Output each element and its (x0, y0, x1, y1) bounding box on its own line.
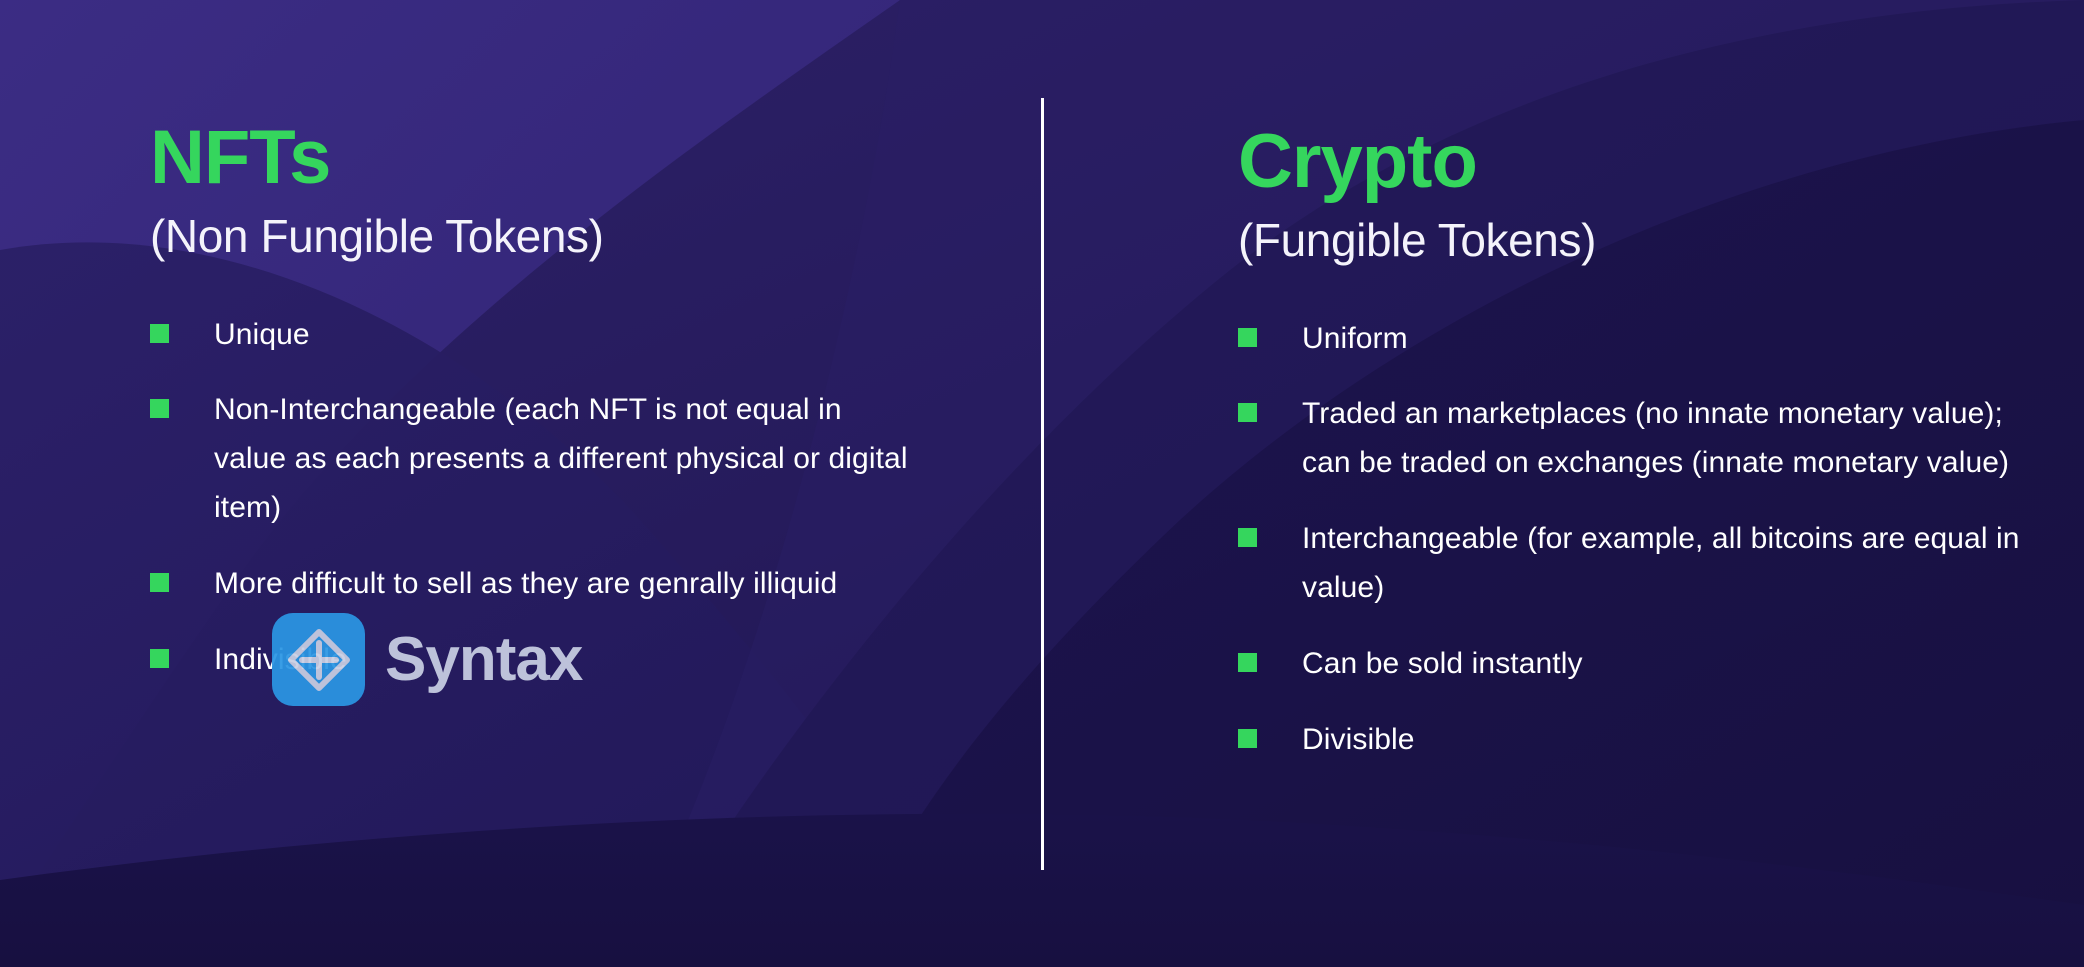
bullet-text: Can be sold instantly (1302, 640, 1583, 689)
list-item: More difficult to sell as they are genra… (150, 560, 930, 609)
bullet-text: Unique (214, 311, 310, 360)
nfts-title: NFTs (150, 118, 930, 197)
crypto-subtitle: (Fungible Tokens) (1238, 215, 2028, 267)
bullet-text: Interchangeable (for example, all bitcoi… (1302, 515, 2022, 613)
bullet-text: Divisible (1302, 716, 1415, 765)
bullet-text: More difficult to sell as they are genra… (214, 560, 837, 609)
list-item: Interchangeable (for example, all bitcoi… (1238, 515, 2028, 613)
square-bullet-icon (1238, 328, 1257, 347)
list-item: Divisible (1238, 716, 2028, 765)
square-bullet-icon (1238, 403, 1257, 422)
bullet-text: Traded an marketplaces (no innate moneta… (1302, 390, 2022, 488)
list-item: Can be sold instantly (1238, 640, 2028, 689)
crypto-bullet-list: Uniform Traded an marketplaces (no innat… (1238, 315, 2028, 765)
square-bullet-icon (1238, 729, 1257, 748)
list-item: Traded an marketplaces (no innate moneta… (1238, 390, 2028, 488)
crypto-title: Crypto (1238, 122, 2028, 201)
list-item: Unique (150, 311, 930, 360)
nfts-subtitle: (Non Fungible Tokens) (150, 211, 930, 263)
list-item: Non-Interchangeable (each NFT is not equ… (150, 386, 930, 533)
square-bullet-icon (150, 399, 169, 418)
column-crypto: Crypto (Fungible Tokens) Uniform Traded … (1042, 0, 2084, 967)
syntax-watermark: Syntax (272, 613, 582, 706)
bullet-text: Non-Interchangeable (each NFT is not equ… (214, 386, 914, 533)
square-bullet-icon (1238, 653, 1257, 672)
column-nfts: NFTs (Non Fungible Tokens) Unique Non-In… (0, 0, 1042, 967)
column-divider (1041, 98, 1044, 870)
square-bullet-icon (150, 649, 169, 668)
slide-canvas: NFTs (Non Fungible Tokens) Unique Non-In… (0, 0, 2084, 967)
square-bullet-icon (150, 324, 169, 343)
square-bullet-icon (1238, 528, 1257, 547)
syntax-logo-icon (272, 613, 365, 706)
syntax-watermark-label: Syntax (385, 624, 582, 695)
bullet-text: Uniform (1302, 315, 1408, 364)
square-bullet-icon (150, 573, 169, 592)
list-item: Uniform (1238, 315, 2028, 364)
